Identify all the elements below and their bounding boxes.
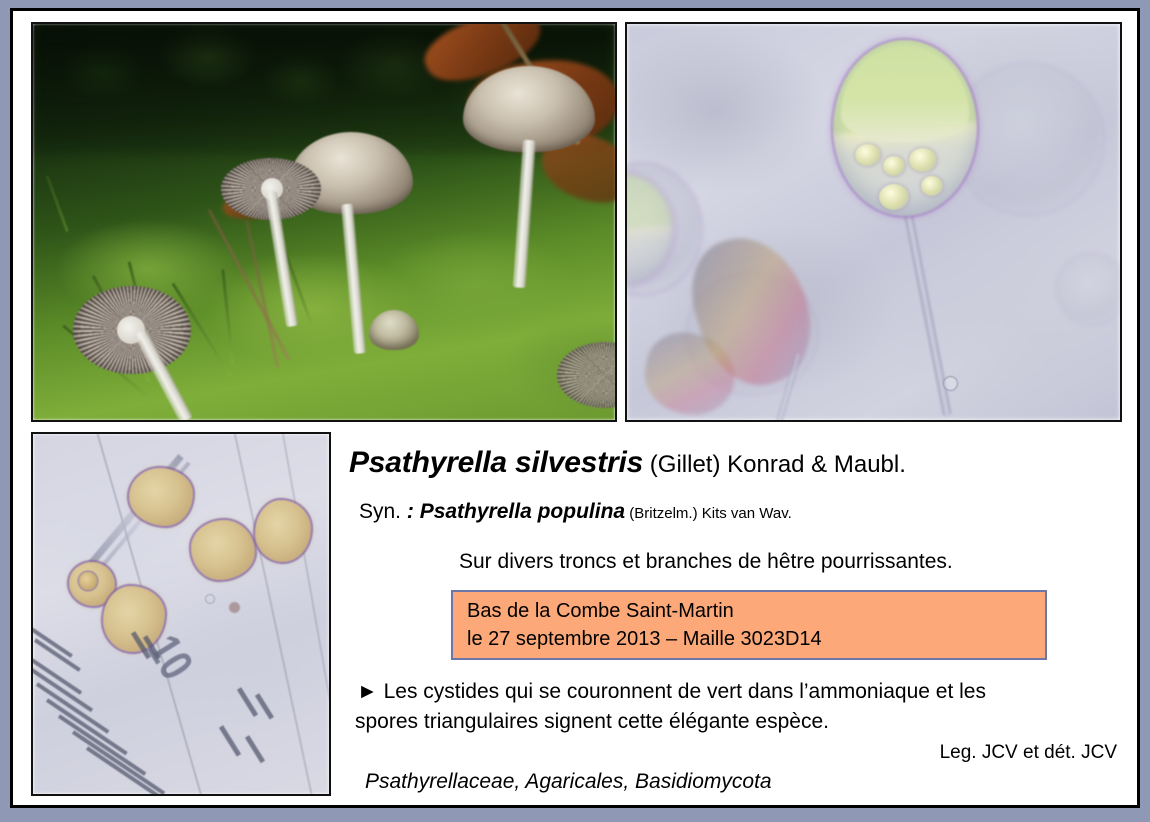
cystidium-granule [909, 148, 937, 172]
scientific-name-authority: (Gillet) Konrad & Maubl. [643, 451, 906, 478]
spore [191, 520, 255, 580]
locality-place: Bas de la Combe Saint-Martin [467, 600, 734, 623]
diagnostic-note-line-2: spores triangulaires signent cette éléga… [355, 710, 829, 734]
cystidium-granule [883, 156, 905, 176]
slide-frame: 10 Psathyrella silvestris (Gillet) Konra… [10, 8, 1140, 808]
cystidium-granule [879, 184, 909, 210]
diagnostic-note-line-1: ► Les cystides qui se couronnent de vert… [357, 680, 986, 704]
habitat-photo[interactable] [31, 22, 617, 422]
locality-box: Bas de la Combe Saint-Martin le 27 septe… [451, 590, 1047, 660]
out-of-focus-blob [1057, 254, 1122, 324]
locality-date-grid: le 27 septembre 2013 – Maille 3023D14 [467, 628, 822, 651]
small-particle [229, 602, 240, 613]
synonym-authority: (Britzelm.) Kits van Wav. [625, 505, 792, 522]
description-panel: Psathyrella silvestris (Gillet) Konrad &… [341, 432, 1131, 796]
cystidium-granule [921, 176, 943, 196]
synonym-name: : Psathyrella populina [401, 500, 625, 523]
spores-photo[interactable]: 10 [31, 432, 331, 796]
scientific-name: Psathyrella silvestris [349, 446, 643, 479]
habitat-description: Sur divers troncs et branches de hêtre p… [459, 550, 953, 574]
page-title: Psathyrella silvestris (Gillet) Konrad &… [349, 446, 906, 480]
synonym-label: Syn. [359, 500, 401, 523]
germ-pore [79, 572, 97, 590]
cystidium-granule [855, 144, 881, 166]
air-bubble [943, 376, 958, 391]
synonym-line: Syn. : Psathyrella populina (Britzelm.) … [359, 500, 792, 524]
small-particle [205, 594, 215, 604]
collector-credit: Leg. JCV et dét. JCV [940, 742, 1117, 764]
taxonomy-line: Psathyrellaceae, Agaricales, Basidiomyco… [365, 770, 772, 794]
cystidia-photo[interactable] [625, 22, 1122, 422]
